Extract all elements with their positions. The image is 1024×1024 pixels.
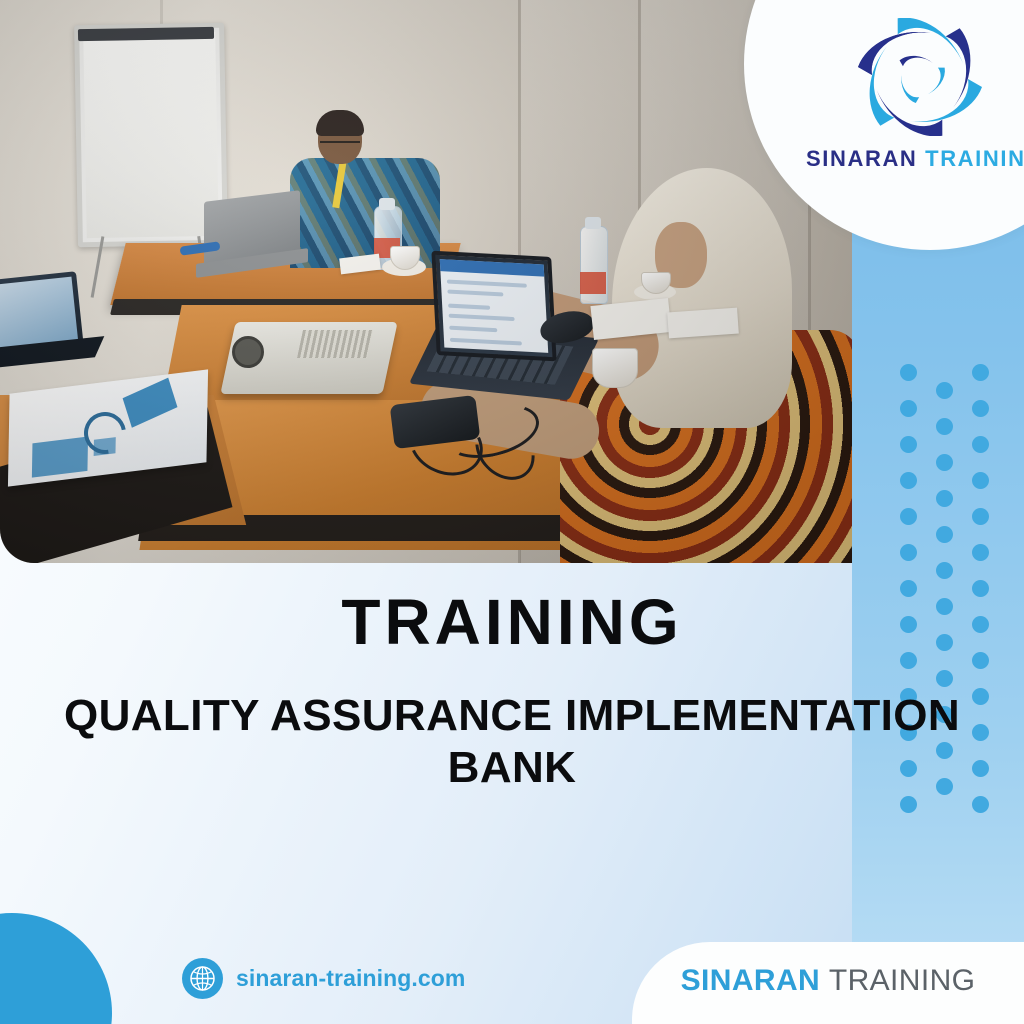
decor-dot <box>936 418 953 435</box>
decor-dot <box>936 490 953 507</box>
website-link[interactable]: sinaran-training.com <box>182 958 465 999</box>
decor-dot <box>972 544 989 561</box>
page-title: TRAINING <box>0 590 1024 654</box>
decor-dot <box>972 472 989 489</box>
brand-logo: SINARAN TRAINING <box>806 18 1024 183</box>
photo-scene <box>0 0 852 563</box>
training-photo <box>0 0 852 563</box>
decor-dot <box>900 544 917 561</box>
website-url: sinaran-training.com <box>236 965 465 992</box>
decor-dot <box>900 472 917 489</box>
globe-icon <box>182 958 223 999</box>
brand-logo-text: SINARAN TRAINING <box>806 146 1024 172</box>
decor-dot <box>936 454 953 471</box>
corner-accent-circle <box>0 913 112 1024</box>
page-subtitle: QUALITY ASSURANCE IMPLEMENTATION BANK <box>0 690 1024 794</box>
brand-name-secondary: TRAINING <box>925 146 1024 171</box>
decor-dot <box>972 364 989 381</box>
footer-brand-panel: SINARAN TRAINING <box>632 942 1024 1024</box>
swirl-vortex-logo-icon <box>846 18 994 136</box>
photo-vignette <box>0 0 852 563</box>
decor-dot <box>972 796 989 813</box>
footer-brand-secondary: TRAINING <box>829 964 976 997</box>
decor-dot <box>900 400 917 417</box>
decor-dot <box>900 508 917 525</box>
decor-dot <box>972 436 989 453</box>
decor-dot <box>900 436 917 453</box>
footer-brand-text: SINARAN TRAINING <box>632 964 1024 998</box>
poster-canvas: SINARAN TRAINING TRAINING QUALITY ASSURA… <box>0 0 1024 1024</box>
brand-name-primary: SINARAN <box>806 146 917 171</box>
decor-dot <box>972 400 989 417</box>
decor-dot <box>936 382 953 399</box>
decor-dot <box>936 526 953 543</box>
decor-dot <box>900 796 917 813</box>
footer-brand-primary: SINARAN <box>681 964 820 997</box>
decor-dot <box>900 364 917 381</box>
title-block: TRAINING QUALITY ASSURANCE IMPLEMENTATIO… <box>0 568 1024 794</box>
decor-dot <box>972 508 989 525</box>
